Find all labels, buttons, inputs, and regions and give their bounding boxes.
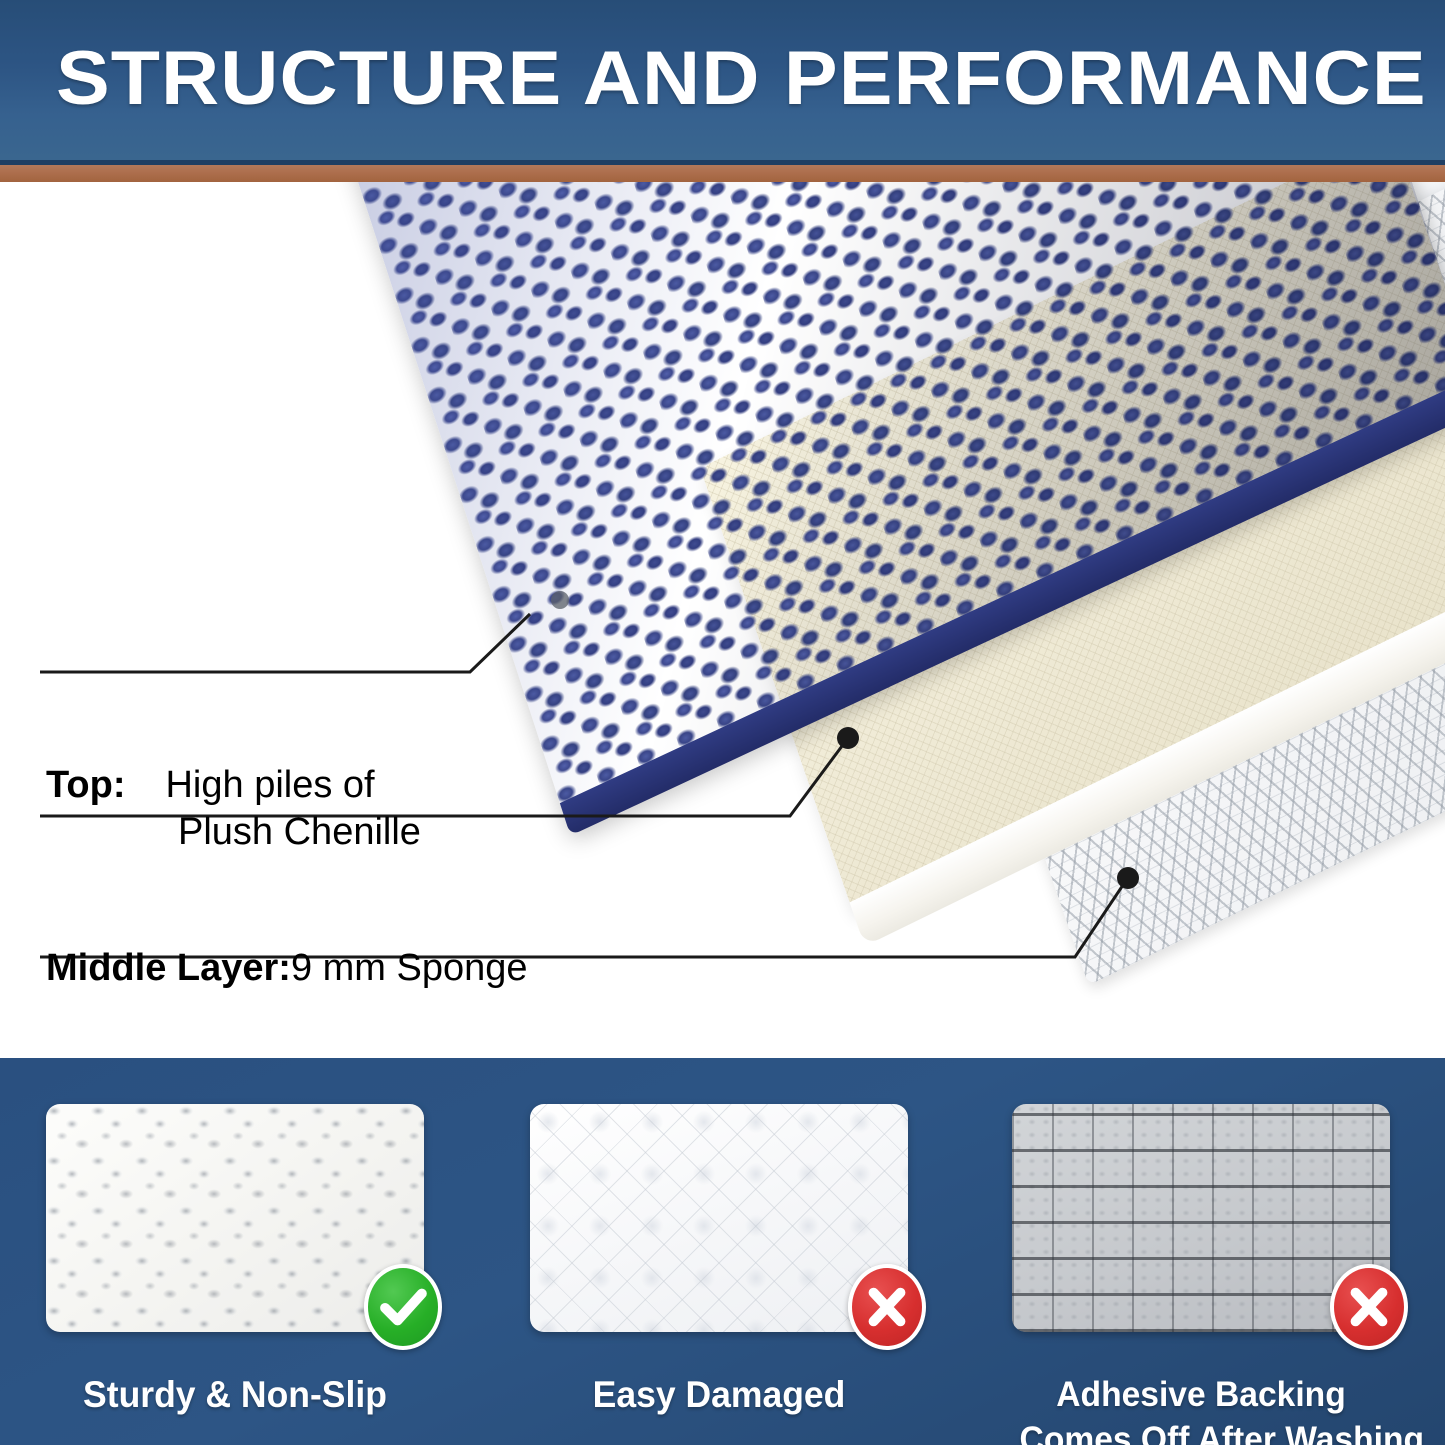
comparison-card: Adhesive Backing Comes Off After Washing [1012,1104,1390,1445]
infographic-page: STRUCTURE AND PERFORMANCE [0,0,1445,1445]
page-title: STRUCTURE AND PERFORMANCE [56,36,1427,122]
comparison-card: Easy Damaged [530,1104,908,1417]
cross-icon [848,1264,926,1350]
check-glyph [368,1268,438,1346]
card-caption: Sturdy & Non-Slip [54,1372,417,1417]
accent-stripe [0,165,1445,182]
comparison-panel: Sturdy & Non-Slip Easy Damaged [0,1058,1445,1445]
cross-glyph [852,1268,922,1346]
callout-middle-line: Middle Layer:9 mm Sponge [46,945,528,992]
card-caption: Easy Damaged [538,1372,901,1417]
card-caption-line-1: Adhesive Backing [1020,1372,1383,1417]
card-caption-line-2: Comes Off After Washing [1020,1417,1383,1445]
callout-middle-label: Middle Layer: [46,947,291,989]
header-banner: STRUCTURE AND PERFORMANCE [0,0,1445,160]
swatch-easy-damaged [530,1104,908,1332]
card-caption-line-1: Sturdy & Non-Slip [54,1372,417,1417]
comparison-card-list: Sturdy & Non-Slip Easy Damaged [0,1058,1445,1445]
check-icon [364,1264,442,1350]
callout-top-label: Top: [46,764,125,806]
callout-middle: Middle Layer:9 mm Sponge [46,945,528,992]
cross-icon [1330,1264,1408,1350]
swatch-adhesive-backing [1012,1104,1390,1332]
product-layer-diagram: Top:High piles of Plush Chenille Middle … [0,182,1445,1058]
cross-glyph [1334,1268,1404,1346]
callout-top-value-1: High piles of [165,764,374,806]
callout-top-value-2: Plush Chenille [46,809,421,856]
swatch-sturdy-non-slip [46,1104,424,1332]
callout-top-line-2: Plush Chenille [46,809,421,856]
comparison-card: Sturdy & Non-Slip [46,1104,424,1417]
card-caption-line-1: Easy Damaged [538,1372,901,1417]
callout-middle-value: 9 mm Sponge [291,947,528,989]
callout-top-line-1: Top:High piles of [46,762,421,809]
card-caption: Adhesive Backing Comes Off After Washing [1020,1372,1383,1445]
callout-top: Top:High piles of Plush Chenille [46,762,421,856]
